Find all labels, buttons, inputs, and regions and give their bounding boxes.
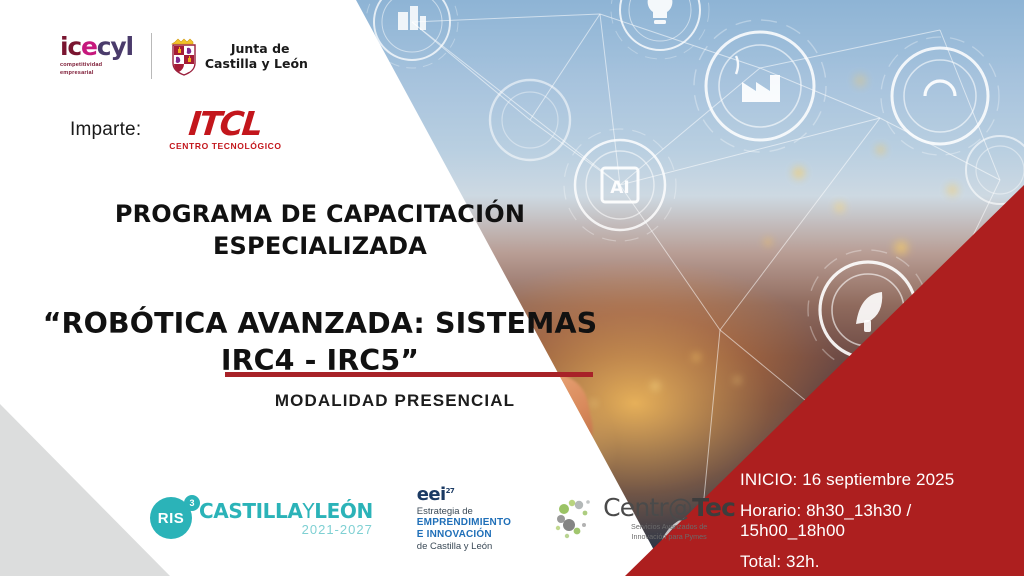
centratec-subtitle-line1: Servicios Avanzados de bbox=[631, 522, 707, 531]
eei-line-1: Estrategia de bbox=[417, 506, 511, 517]
footer-logo-row: RIS 3 CASTILLAYLEÓN 2021-2027 eei27 Estr… bbox=[150, 484, 735, 552]
ris3-name-leon: LEÓN bbox=[314, 499, 373, 523]
title-divider-rule bbox=[225, 372, 593, 377]
eei-logo: eei27 Estrategia de EMPRENDIMIENTO E INN… bbox=[417, 484, 511, 552]
imparte-label: Imparte: bbox=[70, 119, 141, 141]
centratec-subtitle-line2: Innovación para Pymes bbox=[632, 532, 707, 541]
ris3-name: CASTILLAYLEÓN bbox=[199, 499, 373, 523]
svg-text:AI: AI bbox=[610, 178, 629, 198]
icecyl-part-cyl: cyl bbox=[97, 32, 133, 61]
course-details-panel: INICIO: 16 septiembre 2025 Horario: 8h30… bbox=[740, 470, 1008, 573]
imparte-row: Imparte: ITCL CENTRO TECNOLÓGICO bbox=[70, 108, 282, 151]
icecyl-logo: icecyl competitividad empresarial bbox=[60, 34, 133, 77]
junta-line-1: Junta de bbox=[205, 41, 308, 56]
centratec-dot-cluster-icon bbox=[555, 495, 601, 541]
junta-wordmark: Junta de Castilla y León bbox=[205, 41, 308, 71]
ris3-wordmark: CASTILLAYLEÓN 2021-2027 bbox=[199, 501, 373, 536]
modality-label: MODALIDAD PRESENCIAL bbox=[0, 391, 790, 411]
start-date: INICIO: 16 septiembre 2025 bbox=[740, 470, 1008, 491]
eei-superscript: 27 bbox=[446, 487, 455, 495]
coat-of-arms-icon bbox=[170, 36, 198, 76]
hud-node-factory bbox=[366, 0, 458, 68]
schedule-line-2: 15h00_18h00 bbox=[740, 521, 845, 540]
centratec-name: Centr@Tec bbox=[603, 493, 735, 522]
centratec-name-tec: Tec bbox=[692, 493, 735, 522]
ris3-name-y: Y bbox=[302, 499, 314, 523]
safety-helmet-brim bbox=[329, 415, 507, 459]
centratec-wordmark: Centr@Tec Servicios Avanzados de Innovac… bbox=[603, 495, 735, 541]
centratec-subtitle: Servicios Avanzados de Innovación para P… bbox=[603, 522, 735, 541]
program-title-line1: PROGRAMA DE CAPACITACIÓN bbox=[115, 200, 525, 228]
hud-node-plant bbox=[694, 20, 826, 152]
centratec-name-centr: Centr bbox=[603, 493, 668, 522]
eei-wordmark: eei27 bbox=[417, 484, 454, 505]
schedule: Horario: 8h30_13h30 / 15h00_18h00 bbox=[740, 501, 1008, 542]
poster-canvas: AI bbox=[0, 0, 1024, 576]
eei-word-text: eei bbox=[417, 484, 446, 505]
icecyl-tagline-line1: competitividad bbox=[60, 62, 102, 68]
hud-node-cycle bbox=[881, 37, 999, 155]
centratec-logo: Centr@Tec Servicios Avanzados de Innovac… bbox=[555, 495, 735, 541]
ris3-name-castilla: CASTILLA bbox=[199, 499, 302, 523]
hud-node-lightbulb bbox=[611, 0, 709, 59]
icecyl-part-e: e bbox=[81, 32, 97, 61]
icecyl-tagline-line2: empresarial bbox=[60, 70, 94, 76]
junta-castilla-leon-logo: Junta de Castilla y León bbox=[170, 36, 308, 76]
logo-separator bbox=[151, 33, 152, 79]
total-hours: Total: 32h. bbox=[740, 552, 1008, 573]
eei-line-3: E INNOVACIÓN bbox=[417, 529, 511, 541]
itcl-wordmark: ITCL bbox=[188, 108, 263, 139]
centratec-at-symbol: @ bbox=[668, 493, 692, 522]
program-title: PROGRAMA DE CAPACITACIÓN ESPECIALIZADA bbox=[0, 198, 640, 263]
course-title-line1: “ROBÓTICA AVANZADA: SISTEMAS bbox=[43, 307, 598, 340]
title-block: PROGRAMA DE CAPACITACIÓN ESPECIALIZADA “… bbox=[0, 198, 640, 380]
icecyl-part-ic: ic bbox=[60, 32, 81, 61]
eei-line-2: EMPRENDIMIENTO bbox=[417, 517, 511, 529]
icecyl-tagline: competitividad empresarial bbox=[60, 62, 102, 77]
eei-line-4: de Castilla y León bbox=[417, 541, 511, 552]
ris3-years: 2021-2027 bbox=[199, 523, 373, 536]
ris3-logo: RIS 3 CASTILLAYLEÓN 2021-2027 bbox=[150, 497, 373, 539]
ris3-superscript: 3 bbox=[184, 495, 200, 511]
icecyl-wordmark: icecyl bbox=[60, 34, 133, 59]
schedule-line-1: Horario: 8h30_13h30 / bbox=[740, 501, 911, 520]
itcl-logo: ITCL CENTRO TECNOLÓGICO bbox=[169, 108, 281, 151]
junta-line-2: Castilla y León bbox=[205, 56, 308, 71]
institutional-logo-row: icecyl competitividad empresarial bbox=[60, 33, 308, 79]
program-title-line2: ESPECIALIZADA bbox=[213, 232, 427, 260]
course-title: “ROBÓTICA AVANZADA: SISTEMAS IRC4 - IRC5… bbox=[0, 263, 640, 380]
